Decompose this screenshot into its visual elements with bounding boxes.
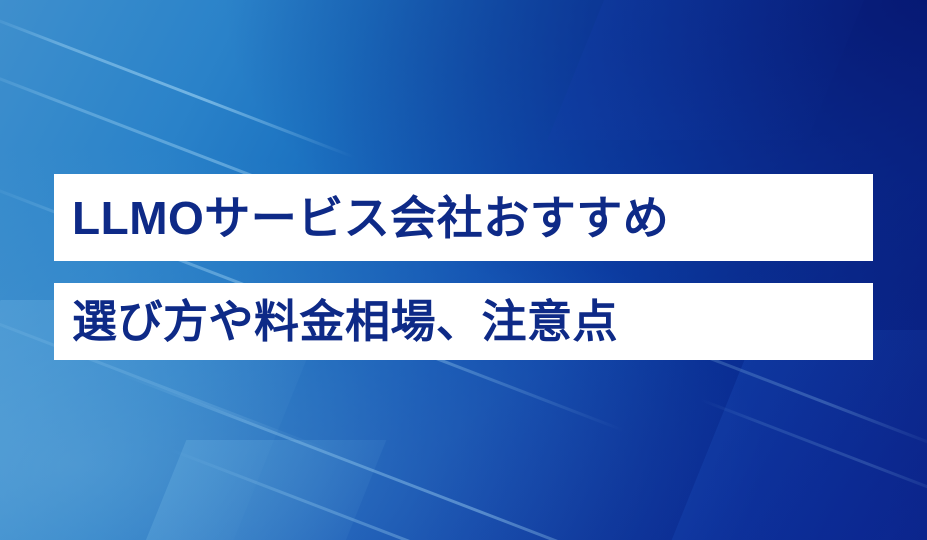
title-line-1: LLMOサービス会社おすすめ [54, 195, 669, 241]
title-bar-secondary: 選び方や料金相場、注意点 [54, 283, 873, 360]
title-line-2: 選び方や料金相場、注意点 [54, 299, 618, 344]
title-block: LLMOサービス会社おすすめ 選び方や料金相場、注意点 [54, 174, 873, 360]
title-bar-divider [54, 261, 873, 283]
article-hero-banner: LLMOサービス会社おすすめ 選び方や料金相場、注意点 [0, 0, 927, 540]
title-bar-primary: LLMOサービス会社おすすめ [54, 174, 873, 261]
